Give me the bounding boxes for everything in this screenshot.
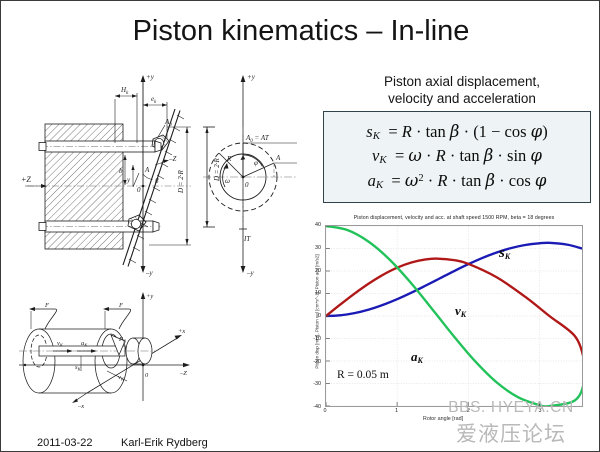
svg-text:–Z: –Z	[168, 155, 177, 163]
svg-text:F: F	[44, 302, 50, 309]
curve-label-ak: aK	[411, 349, 423, 365]
svg-text:–x: –x	[77, 403, 84, 410]
equation-acceleration: aK = ω2 · R · tan β · cos φ	[368, 172, 547, 192]
equation-displacement: sK = R · tan β · (1 − cos φ)	[366, 123, 547, 143]
svg-text:+y: +y	[146, 73, 155, 81]
svg-text:F: F	[118, 302, 124, 309]
svg-text:0: 0	[137, 186, 141, 194]
svg-text:φ: φ	[254, 159, 258, 167]
svg-text:IT: IT	[243, 235, 251, 243]
footer-date: 2011-03-22	[37, 437, 92, 449]
chart-x-axis-label: Rotor angle [rad]	[343, 416, 543, 422]
svg-text:A0 = AT: A0 = AT	[245, 134, 270, 144]
curve-label-sk: sK	[499, 245, 510, 262]
chart-x-tick: 0	[317, 408, 333, 414]
svg-text:ω: ω	[225, 177, 230, 185]
equations-heading-line1: Piston axial displacement,	[331, 73, 593, 90]
svg-text:0: 0	[245, 181, 249, 189]
svg-text:+y: +y	[146, 293, 153, 300]
chart-y-tick: 30	[301, 245, 321, 251]
chart-y-tick: -20	[301, 359, 321, 365]
svg-text:D = 2·R: D = 2·R	[213, 157, 221, 182]
svg-text:vK: vK	[57, 340, 64, 348]
slide-canvas: Piston kinematics – In-line	[0, 0, 600, 452]
chart-x-tick: 2	[460, 408, 476, 414]
svg-text:vK: vK	[118, 374, 125, 382]
chart-y-tick: 0	[301, 313, 321, 319]
kinematics-chart: Piston displacement, velocity and acc. a…	[303, 213, 595, 435]
svg-text:–y: –y	[246, 269, 255, 277]
curve-label-vk: vK	[455, 303, 466, 319]
svg-text:A: A	[144, 166, 150, 174]
chart-y-tick: 10	[301, 290, 321, 296]
svg-text:+Z: +Z	[21, 175, 31, 184]
chart-series-v_K	[326, 259, 582, 373]
svg-text:b: b	[119, 167, 123, 175]
svg-text:β: β	[154, 177, 159, 185]
page-title: Piston kinematics – In-line	[1, 15, 600, 48]
chart-y-tick: 20	[301, 268, 321, 274]
svg-text:–y: –y	[145, 269, 154, 277]
chart-x-tick: 1	[389, 408, 405, 414]
svg-text:FN: FN	[118, 336, 127, 344]
equations-box: sK = R · tan β · (1 − cos φ) vK = ω · R …	[323, 111, 591, 203]
svg-text:ek: ek	[151, 95, 157, 105]
footer-author: Karl-Erik Rydberg	[121, 437, 208, 449]
equations-heading: Piston axial displacement, velocity and …	[331, 73, 593, 107]
svg-text:+x: +x	[178, 328, 185, 335]
svg-text:aK: aK	[81, 340, 88, 348]
swashplate-pump-section-view: +y –y +Z Hk ek b y 0 A A0 –Z β D = 2·R	[15, 69, 197, 281]
chart-y-tick: 40	[301, 222, 321, 228]
svg-text:D = 2·R: D = 2·R	[177, 169, 185, 194]
piston-perspective-view: +y +x –x –Z 0 vK aK sK vK FN F F	[15, 289, 193, 411]
chart-x-tick: 3	[532, 408, 548, 414]
svg-text:A: A	[275, 154, 281, 162]
chart-annotation-radius: R = 0.05 m	[337, 369, 389, 381]
chart-y-tick: -10	[301, 336, 321, 342]
svg-text:–Z: –Z	[179, 370, 187, 377]
chart-title: Piston displacement, velocity and acc. a…	[315, 215, 593, 221]
svg-text:y: y	[126, 176, 131, 184]
chart-y-tick: -30	[301, 381, 321, 387]
svg-text:+y: +y	[247, 73, 256, 81]
equations-heading-line2: velocity and acceleration	[331, 90, 593, 107]
svg-text:Hk: Hk	[120, 86, 129, 96]
rotor-angle-circle-diagram: +y –y A0 = AT A R φ ω 0 IT D = 2·R	[197, 69, 303, 281]
svg-text:R: R	[226, 155, 232, 163]
chart-series-s_K	[326, 243, 582, 316]
equation-velocity: vK = ω · R · tan β · sin φ	[372, 147, 542, 167]
svg-text:0: 0	[145, 372, 149, 379]
